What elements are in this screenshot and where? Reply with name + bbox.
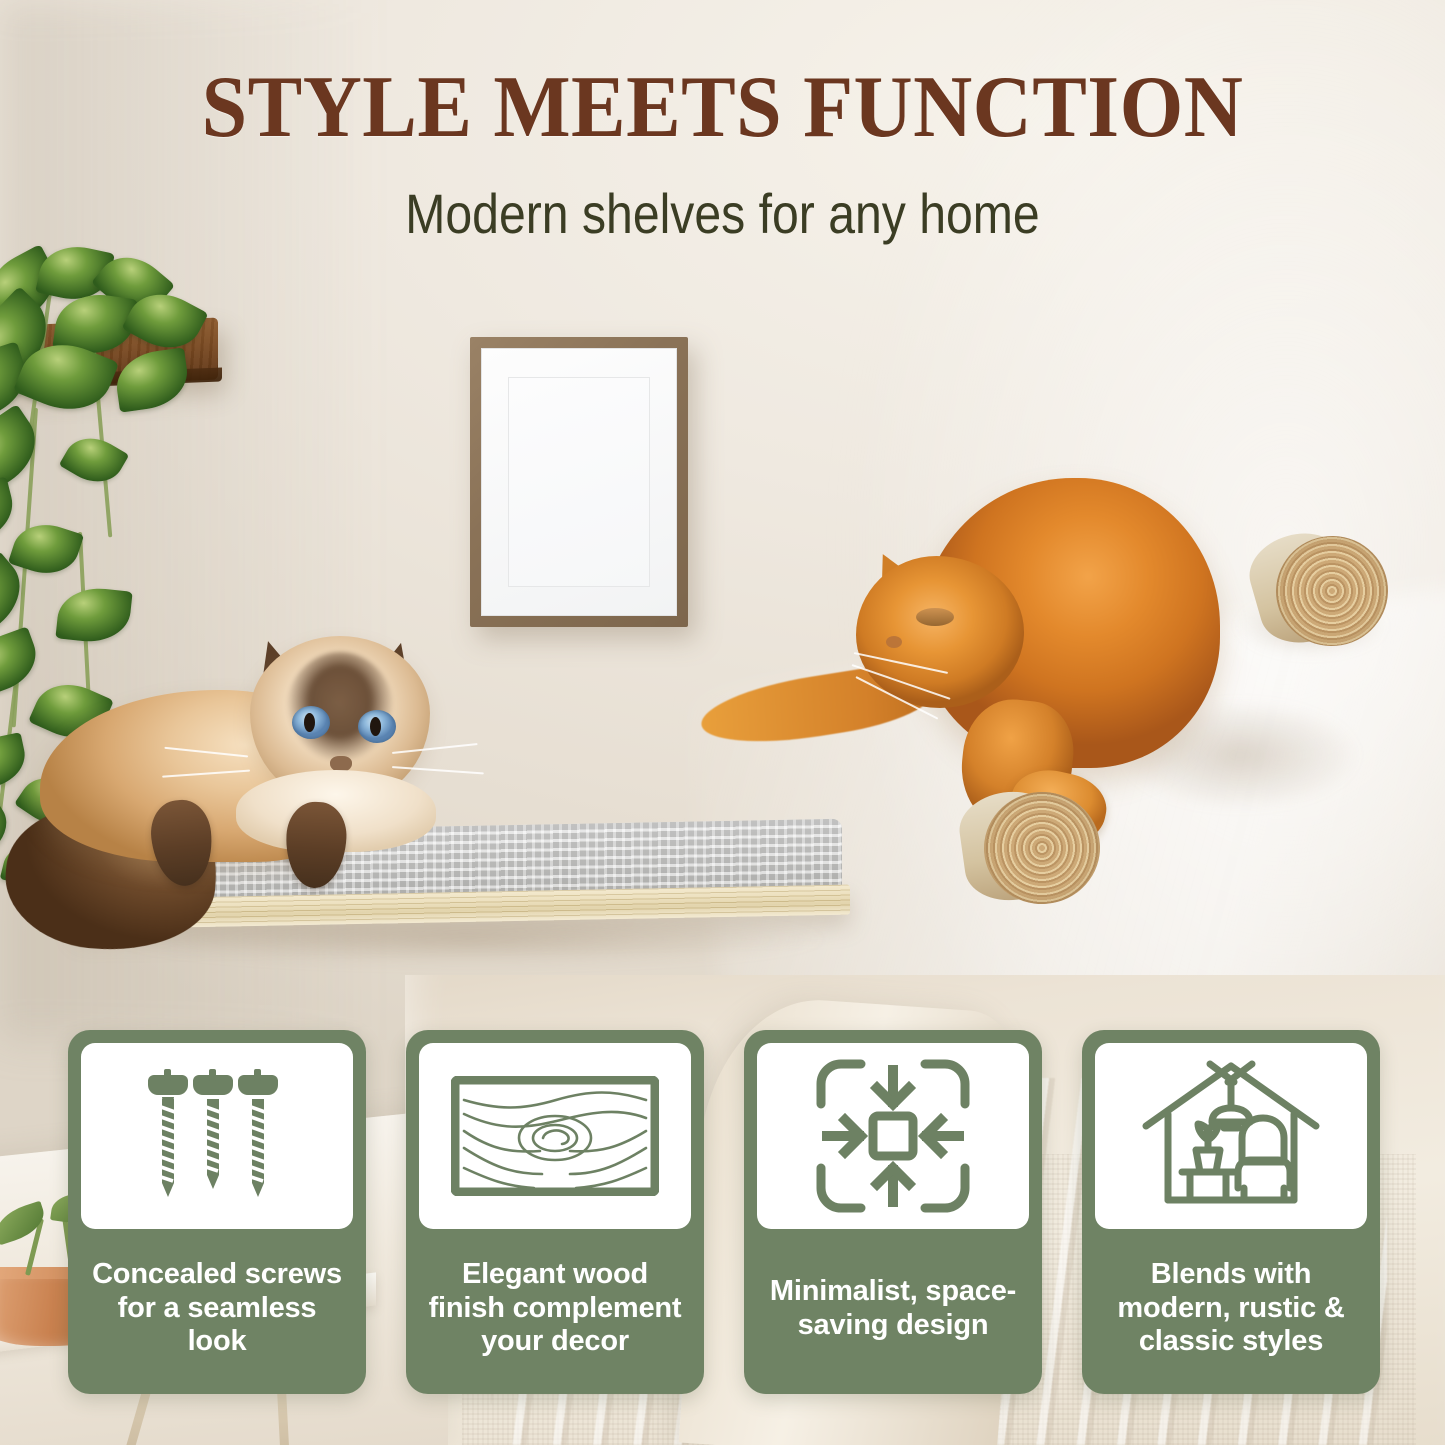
siamese-cat-eye [292,706,330,739]
page-title: STYLE MEETS FUNCTION [51,64,1395,152]
feature-card-blends-styles[interactable]: Blends with modern, rustic & classic sty… [1082,1030,1380,1394]
space-saving-arrows-icon [757,1043,1029,1229]
page-subtitle: Modern shelves for any home [101,186,1344,242]
picture-frame-artwork [508,377,650,586]
feature-card-label: Blends with modern, rustic & classic sty… [1095,1229,1367,1394]
house-interior-icon [1095,1043,1367,1229]
product-infographic: STYLE MEETS FUNCTION Modern shelves for … [0,0,1445,1445]
feature-card-wood-finish[interactable]: Elegant wood finish complement your deco… [406,1030,704,1394]
feature-card-space-saving[interactable]: Minimalist, space-saving design [744,1030,1042,1394]
picture-frame-mat [481,348,677,616]
siamese-cat-eye [358,710,396,743]
feature-cards: Concealed screws for a seamless look [68,1030,1380,1394]
picture-frame [470,337,688,627]
feature-card-concealed-screws[interactable]: Concealed screws for a seamless look [68,1030,366,1394]
screws-icon [81,1043,353,1229]
feature-card-label: Elegant wood finish complement your deco… [419,1229,691,1394]
wood-grain-icon [419,1043,691,1229]
feature-card-label: Concealed screws for a seamless look [81,1229,353,1394]
orange-cat-nose [886,636,902,648]
feature-card-label: Minimalist, space-saving design [757,1229,1029,1394]
orange-cat-eye [916,608,954,626]
orange-cat-head [856,556,1024,708]
